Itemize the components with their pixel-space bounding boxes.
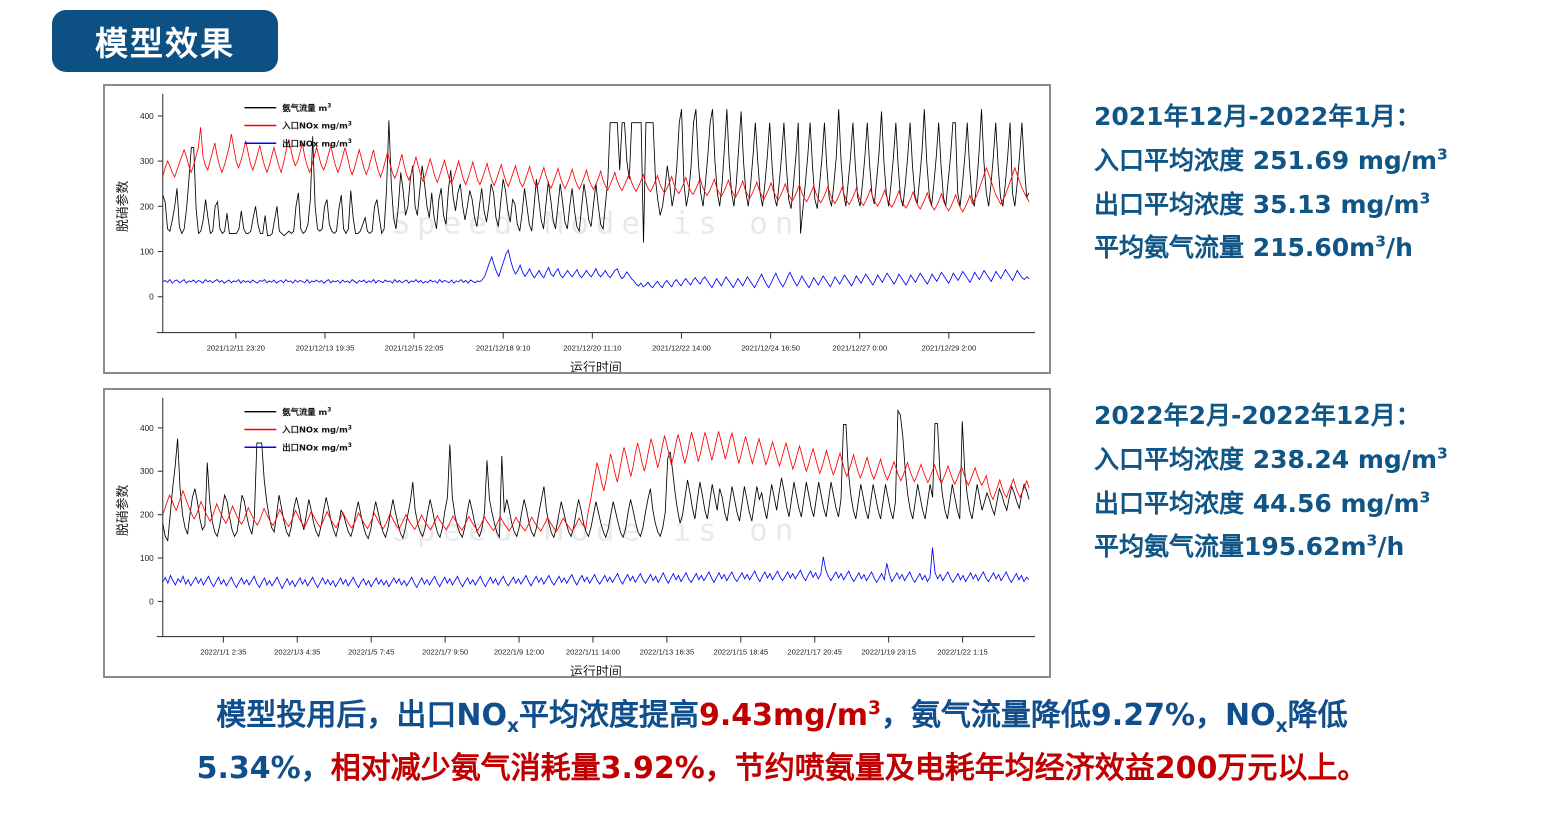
stat-inlet-concentration: 入口平均浓度 251.69 mg/m3 [1094,139,1448,183]
y-tick-label: 100 [140,248,154,257]
y-tick-label: 0 [149,293,154,302]
y-tick-label: 400 [140,424,154,433]
chart-1: Speed Mode is on0100200300400脱硝参数2021/12… [105,86,1049,372]
conclusion-line-1: 模型投用后，出口NOx平均浓度提高9.43mg/m3，氨气流量降低9.27%，N… [0,690,1564,743]
x-tick-label: 2022/1/13 16:35 [640,647,695,656]
stat-outlet-concentration: 出口平均浓度 44.56 mg/m3 [1094,482,1448,526]
legend-label-ammonia-flow: 氨气流量 m3 [282,103,331,113]
x-tick-label: 2022/1/19 23:15 [861,647,916,656]
y-axis-title: 脱硝参数 [115,181,131,232]
slide-root: 模型效果 Speed Mode is on0100200300400脱硝参数20… [0,0,1564,820]
x-tick-label: 2022/1/5 7:45 [348,647,394,656]
x-tick-label: 2022/1/15 18:45 [713,647,768,656]
x-tick-label: 2021/12/20 11:10 [563,343,621,352]
y-tick-label: 200 [140,202,154,211]
stat-period-label: 2021年12月-2022年1月： [1094,95,1448,139]
chart-watermark: Speed Mode is on [391,206,800,242]
chart-card-1: Speed Mode is on0100200300400脱硝参数2021/12… [103,84,1051,374]
x-tick-label: 2022/1/22 1:15 [937,647,987,656]
page-title: 模型效果 [95,17,235,65]
y-tick-label: 0 [149,597,154,606]
x-tick-label: 2021/12/29 2:00 [922,343,977,352]
x-axis-title: 运行时间 [570,665,622,676]
stat-ammonia-flow: 平均氨气流量 215.60m3/h [1094,226,1448,270]
legend-label-outlet-nox: 出口NOx mg/m3 [282,138,352,148]
stat-outlet-concentration: 出口平均浓度 35.13 mg/m3 [1094,183,1448,227]
x-tick-label: 2021/12/24 16:50 [741,343,800,352]
series-line-outlet-nox [163,250,1029,287]
x-tick-label: 2022/1/11 14:00 [566,647,620,656]
conclusion-line-2: 5.34%，相对减少氨气消耗量3.92%，节约喷氨量及电耗年均经济效益200万元… [0,743,1564,795]
y-axis-title: 脱硝参数 [115,485,131,536]
stats-block-period-2: 2022年2月-2022年12月： 入口平均浓度 238.24 mg/m3 出口… [1094,394,1448,569]
x-tick-label: 2022/1/17 20:45 [787,647,842,656]
legend-label-ammonia-flow: 氨气流量 m3 [282,407,331,417]
x-tick-label: 2022/1/7 9:50 [422,647,468,656]
y-tick-label: 400 [140,112,154,121]
x-tick-label: 2021/12/13 19:35 [296,343,355,352]
x-tick-label: 2022/1/9 12:00 [494,647,544,656]
legend-label-outlet-nox: 出口NOx mg/m3 [282,442,352,452]
x-tick-label: 2021/12/15 22:05 [385,343,444,352]
x-tick-label: 2021/12/11 23:20 [207,343,265,352]
x-tick-label: 2021/12/18 9:10 [476,343,531,352]
series-line-outlet-nox [163,548,1029,589]
chart-2: Speed Mode is on0100200300400脱硝参数2022/1/… [105,390,1049,676]
y-tick-label: 100 [140,554,154,563]
stat-inlet-concentration: 入口平均浓度 238.24 mg/m3 [1094,438,1448,482]
y-tick-label: 200 [140,511,154,520]
legend-label-inlet-nox: 入口NOx mg/m3 [281,120,352,130]
y-tick-label: 300 [140,157,154,166]
stats-block-period-1: 2021年12月-2022年1月： 入口平均浓度 251.69 mg/m3 出口… [1094,95,1448,270]
stat-ammonia-flow: 平均氨气流量195.62m3/h [1094,525,1448,569]
chart-card-2: Speed Mode is on0100200300400脱硝参数2022/1/… [103,388,1051,678]
x-tick-label: 2022/1/1 2:35 [200,647,246,656]
conclusion-text: 模型投用后，出口NOx平均浓度提高9.43mg/m3，氨气流量降低9.27%，N… [0,690,1564,795]
x-tick-label: 2021/12/27 0:00 [832,343,887,352]
x-axis-title: 运行时间 [570,361,622,372]
y-tick-label: 300 [140,467,154,476]
stat-period-label: 2022年2月-2022年12月： [1094,394,1448,438]
x-tick-label: 2021/12/22 14:00 [652,343,711,352]
x-tick-label: 2022/1/3 4:35 [274,647,320,656]
legend-label-inlet-nox: 入口NOx mg/m3 [281,424,352,434]
page-title-badge: 模型效果 [52,10,278,72]
